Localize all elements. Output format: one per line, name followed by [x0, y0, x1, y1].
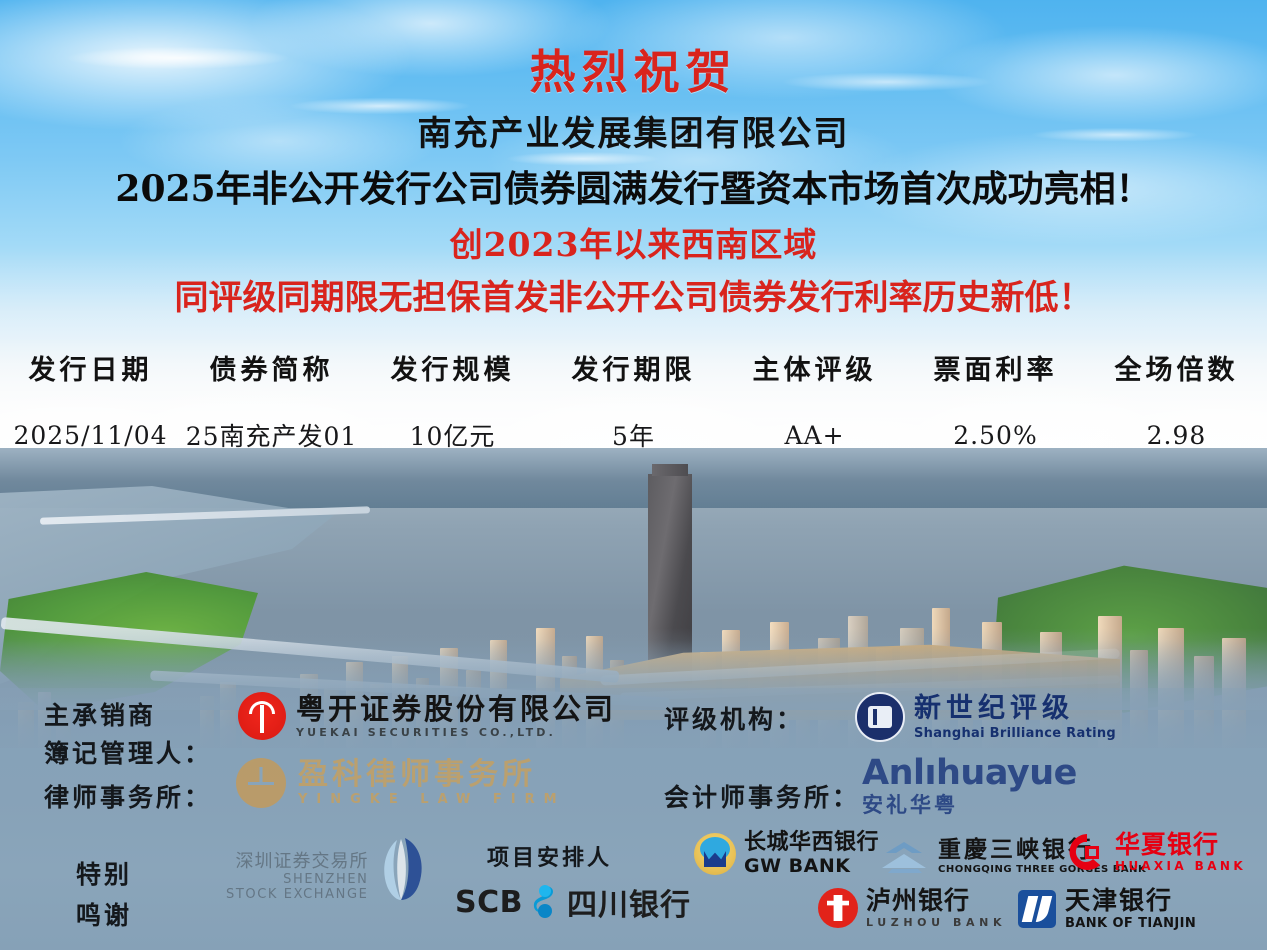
- cell-bond-name: 25南充产发01: [181, 417, 362, 453]
- anlihuayue-name-cn: 安礼华粤: [862, 795, 1077, 816]
- cell-coupon-rate: 2.50%: [905, 417, 1086, 453]
- brilliance-name-en: Shanghai Brilliance Rating: [914, 727, 1116, 740]
- col-header-bond-name: 债券简称: [181, 344, 362, 417]
- table-row: 2025/11/04 25南充产发01 10亿元 5年 AA+ 2.50% 2.…: [0, 417, 1267, 453]
- luzhou-wordmark: 泸州银行 LUZHOU BANK: [866, 888, 1006, 928]
- logo-yuekai-securities: 粤开证券股份有限公司 YUEKAI SECURITIES CO.,LTD.: [238, 692, 616, 740]
- bond-details-table: 发行日期 债券简称 发行规模 发行期限 主体评级 票面利率 全场倍数 2025/…: [0, 344, 1267, 453]
- logo-sichuan-bank: SCB 四川银行: [455, 880, 691, 924]
- label-lead-underwriter: 主承销商: [44, 696, 156, 732]
- szse-name-cn: 深圳证券交易所: [226, 852, 369, 873]
- szse-wordmark: 深圳证券交易所 SHENZHEN STOCK EXCHANGE: [226, 836, 369, 903]
- label-special-thanks-line1: 特别: [76, 855, 132, 891]
- tianjin-name-cn: 天津银行: [1065, 888, 1196, 913]
- col-header-issuer-rating: 主体评级: [724, 344, 905, 417]
- logo-yingke-law-firm: 盈科律师事务所 YINGKE LAW FIRM: [236, 758, 566, 808]
- luzhou-name-en: LUZHOU BANK: [866, 917, 1006, 928]
- scb-name-cn: 四川银行: [567, 880, 691, 924]
- col-header-issue-size: 发行规模: [362, 344, 543, 417]
- celebration-poster: 热烈祝贺 南充产业发展集团有限公司 2025年非公开发行公司债券圆满发行暨资本市…: [0, 0, 1267, 950]
- main-announcement: 2025年非公开发行公司债券圆满发行暨资本市场首次成功亮相！: [0, 160, 1267, 212]
- gwbank-name-en: GW BANK: [744, 857, 879, 876]
- label-rating-agency: 评级机构：: [664, 700, 804, 736]
- huaxia-wordmark: 华夏银行 HUAXIA BANK: [1115, 832, 1246, 872]
- label-bookrunner: 簿记管理人：: [44, 734, 212, 770]
- logo-huaxia-bank: 华夏银行 HUAXIA BANK: [1068, 832, 1246, 872]
- cell-issue-size: 10亿元: [362, 417, 543, 453]
- company-name: 南充产业发展集团有限公司: [0, 106, 1267, 155]
- table-header-row: 发行日期 债券简称 发行规模 发行期限 主体评级 票面利率 全场倍数: [0, 344, 1267, 417]
- szse-name-en1: SHENZHEN: [226, 873, 369, 888]
- huaxia-name-en: HUAXIA BANK: [1115, 860, 1246, 872]
- yingke-name-cn: 盈科律师事务所: [298, 760, 566, 790]
- logo-anlihuayue-accounting: Anlıhuayue 安礼华粤: [862, 756, 1077, 816]
- cell-subscription-multiple: 2.98: [1086, 417, 1267, 453]
- label-law-firm: 律师事务所：: [44, 778, 212, 814]
- scb-helix-icon: [531, 884, 559, 920]
- congrats-title: 热烈祝贺: [0, 36, 1267, 102]
- logo-shanghai-brilliance-rating: 新世纪评级 Shanghai Brilliance Rating: [855, 692, 1116, 742]
- luzhou-mark-icon: [818, 888, 858, 928]
- record-line-1: 创2023年以来西南区域: [0, 218, 1267, 266]
- huaxia-mark-icon: [1068, 833, 1106, 871]
- yuekai-mark-icon: [238, 692, 286, 740]
- brilliance-seal-icon: [855, 692, 905, 742]
- yingke-cube-icon: [236, 758, 286, 808]
- label-project-arranger: 项目安排人: [487, 840, 612, 872]
- szse-name-en2: STOCK EXCHANGE: [226, 888, 369, 903]
- cqtgb-mountains-icon: [878, 840, 930, 874]
- luzhou-name-cn: 泸州银行: [866, 888, 1006, 913]
- logo-shenzhen-stock-exchange: 深圳证券交易所 SHENZHEN STOCK EXCHANGE: [226, 836, 427, 903]
- cell-issuer-rating: AA+: [724, 417, 905, 453]
- label-accounting-firm: 会计师事务所：: [664, 778, 860, 814]
- brilliance-name-cn: 新世纪评级: [914, 695, 1116, 722]
- yingke-wordmark: 盈科律师事务所 YINGKE LAW FIRM: [298, 760, 566, 806]
- szse-wave-icon: [375, 836, 427, 902]
- col-header-coupon-rate: 票面利率: [905, 344, 1086, 417]
- record-line-2: 同评级同期限无担保首发非公开公司债券发行利率历史新低！: [0, 270, 1267, 319]
- yingke-name-en: YINGKE LAW FIRM: [298, 793, 566, 806]
- logo-bank-of-tianjin: 天津银行 BANK OF TIANJIN: [1018, 888, 1196, 930]
- col-header-subscription-multiple: 全场倍数: [1086, 344, 1267, 417]
- anlihuayue-name-en: Anlıhuayue: [862, 756, 1077, 791]
- tianjin-name-en: BANK OF TIANJIN: [1065, 917, 1196, 930]
- logo-gw-bank: 长城华西银行 GW BANK: [694, 832, 879, 876]
- label-special-thanks-line2: 鸣谢: [76, 896, 132, 932]
- cell-tenor: 5年: [543, 417, 724, 453]
- brilliance-wordmark: 新世纪评级 Shanghai Brilliance Rating: [914, 695, 1116, 740]
- col-header-tenor: 发行期限: [543, 344, 724, 417]
- tianjin-mark-icon: [1018, 890, 1056, 928]
- huaxia-name-cn: 华夏银行: [1115, 832, 1246, 857]
- scb-abbrev: SCB: [455, 885, 523, 920]
- yuekai-wordmark: 粤开证券股份有限公司 YUEKAI SECURITIES CO.,LTD.: [296, 695, 616, 738]
- gwbank-wordmark: 长城华西银行 GW BANK: [744, 832, 879, 876]
- gwbank-name-cn: 长城华西银行: [744, 832, 879, 854]
- tianjin-wordmark: 天津银行 BANK OF TIANJIN: [1065, 888, 1196, 930]
- cell-issue-date: 2025/11/04: [0, 417, 181, 453]
- yuekai-name-en: YUEKAI SECURITIES CO.,LTD.: [296, 727, 616, 738]
- col-header-issue-date: 发行日期: [0, 344, 181, 417]
- gwbank-crown-icon: [694, 833, 736, 875]
- logo-luzhou-bank: 泸州银行 LUZHOU BANK: [818, 888, 1006, 928]
- yuekai-name-cn: 粤开证券股份有限公司: [296, 695, 616, 724]
